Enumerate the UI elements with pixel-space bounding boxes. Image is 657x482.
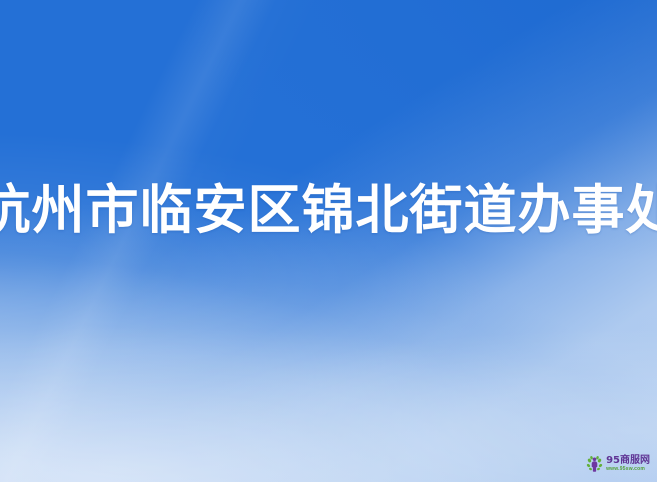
person-sprout-logo-icon [586,455,603,472]
watermark-site-name: 95商服网 [606,456,650,466]
watermark-site-url: www.95sw.com [606,467,650,472]
watermark: 95商服网 www.95sw.com [586,455,650,472]
site-banner: 杭州市临安区锦北街道办事处 95商服网 www.95sw.com [0,0,657,482]
banner-title: 杭州市临安区锦北街道办事处 [0,168,657,252]
watermark-text-group: 95商服网 www.95sw.com [606,456,650,472]
